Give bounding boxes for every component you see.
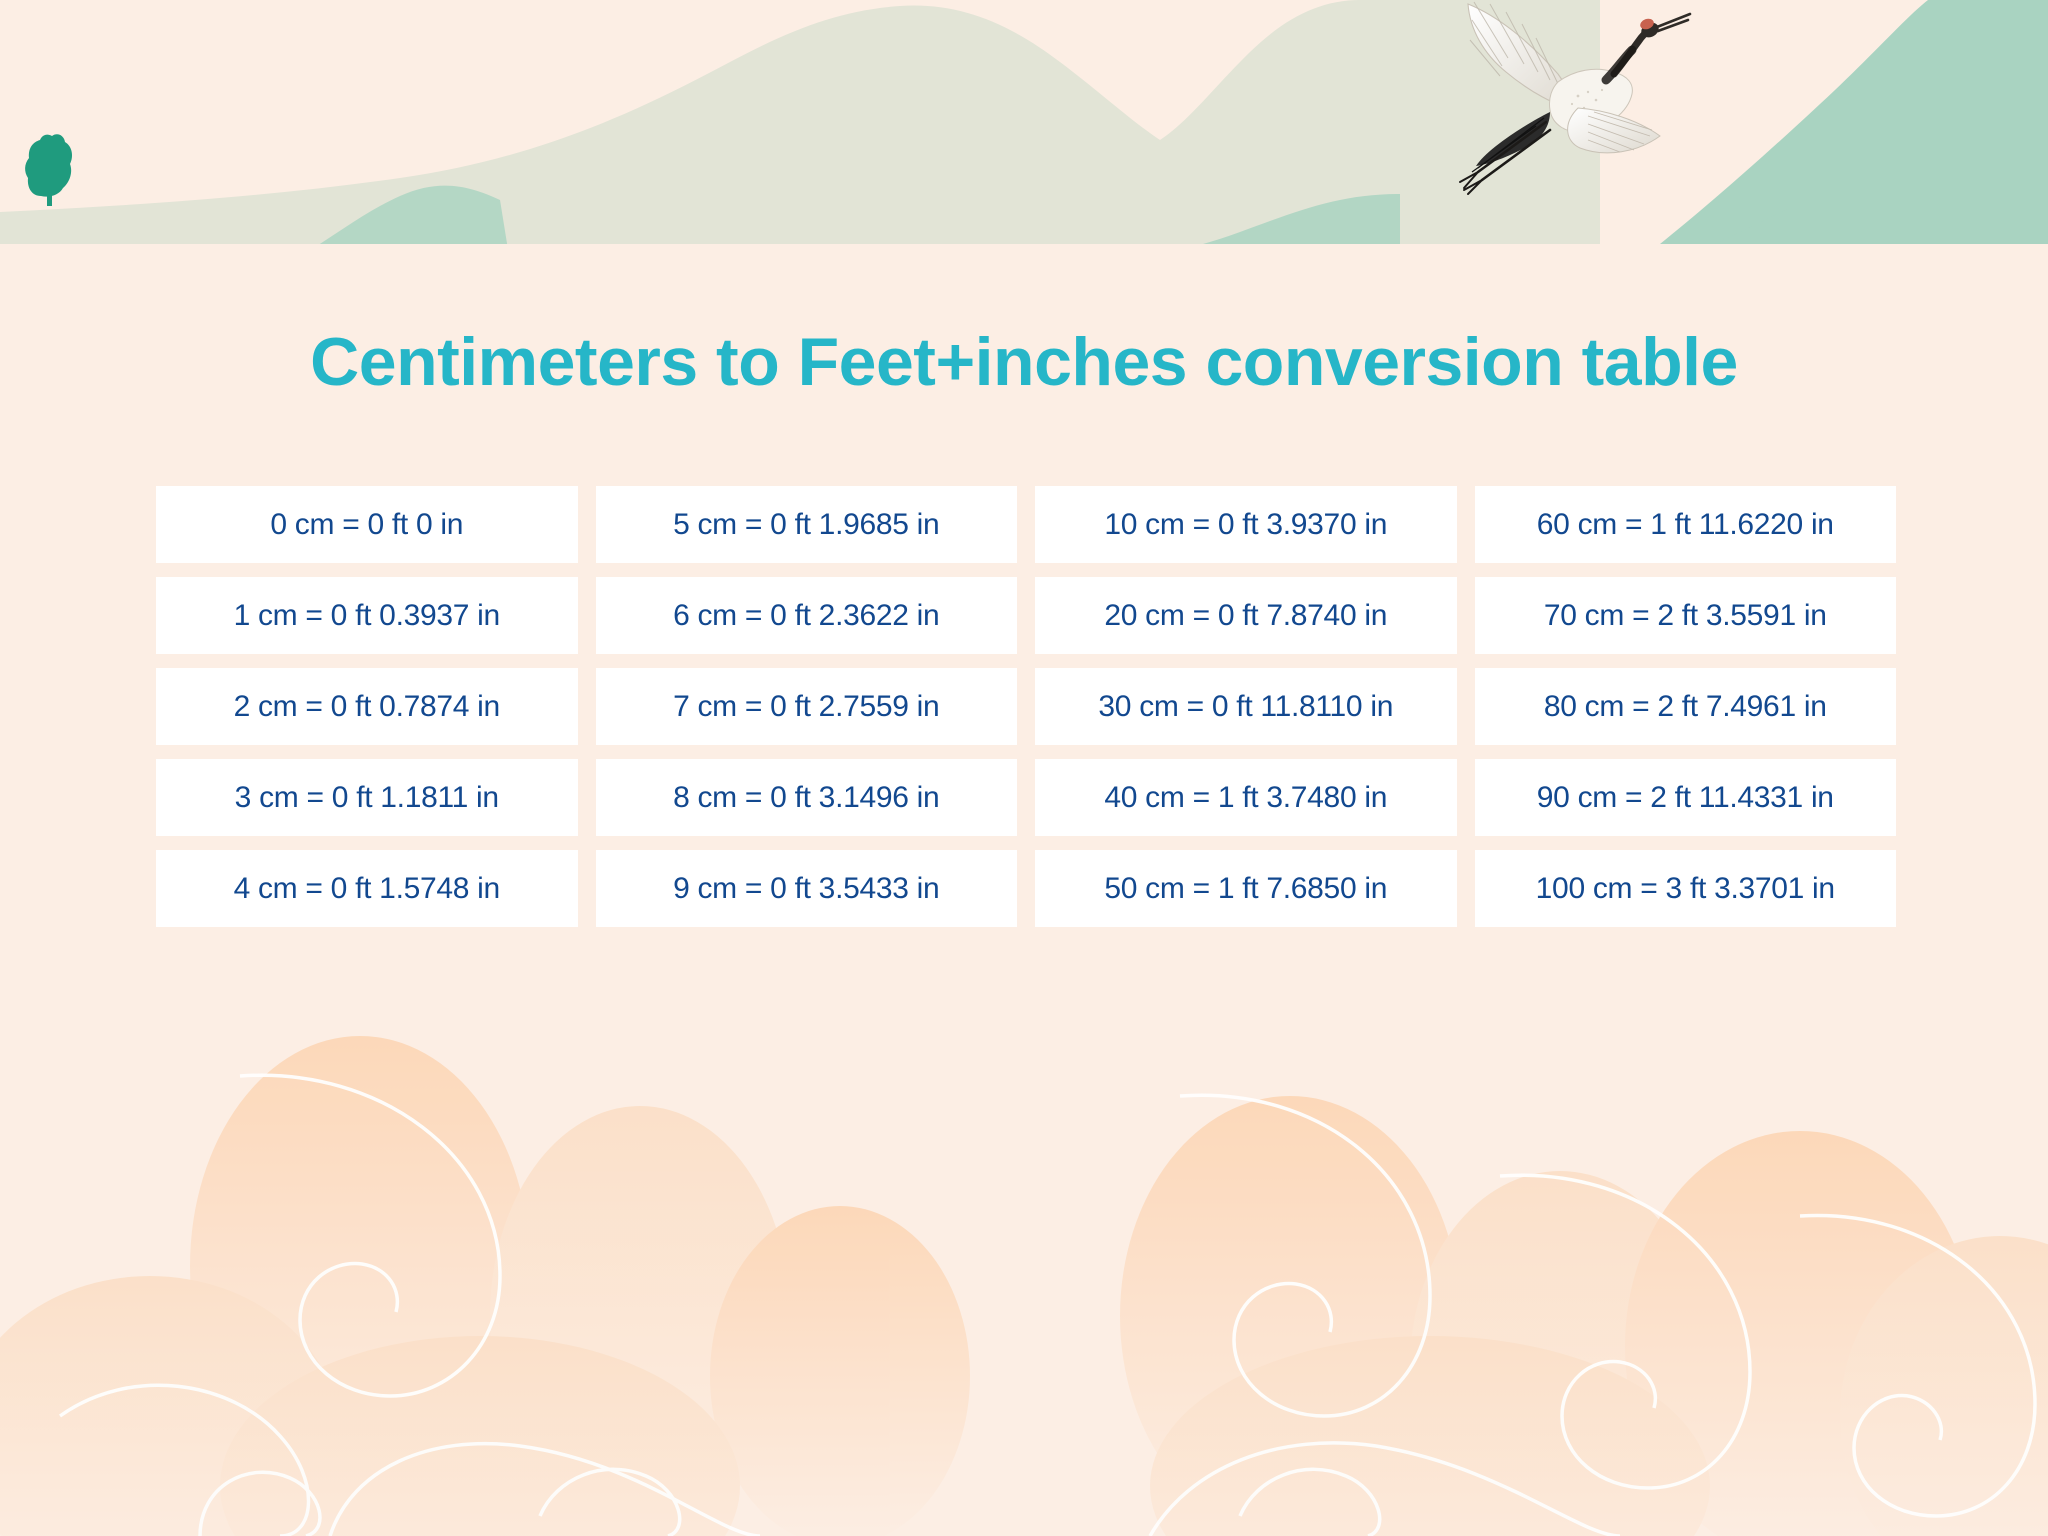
conversion-cell: 5 cm = 0 ft 1.9685 in bbox=[596, 486, 1018, 563]
conversion-cell: 3 cm = 0 ft 1.1811 in bbox=[156, 759, 578, 836]
conversion-cell: 70 cm = 2 ft 3.5591 in bbox=[1475, 577, 1897, 654]
conversion-cell: 30 cm = 0 ft 11.8110 in bbox=[1035, 668, 1457, 745]
slide-canvas: Centimeters to Feet+inches conversion ta… bbox=[0, 0, 2048, 1536]
conversion-cell: 2 cm = 0 ft 0.7874 in bbox=[156, 668, 578, 745]
conversion-cell: 9 cm = 0 ft 3.5433 in bbox=[596, 850, 1018, 927]
header-mountain-band bbox=[0, 0, 2048, 262]
cloud-decoration bbox=[0, 1016, 2048, 1536]
conversion-cell: 10 cm = 0 ft 3.9370 in bbox=[1035, 486, 1457, 563]
conversion-cell: 8 cm = 0 ft 3.1496 in bbox=[596, 759, 1018, 836]
conversion-cell: 7 cm = 0 ft 2.7559 in bbox=[596, 668, 1018, 745]
conversion-cell: 60 cm = 1 ft 11.6220 in bbox=[1475, 486, 1897, 563]
conversion-cell: 1 cm = 0 ft 0.3937 in bbox=[156, 577, 578, 654]
cloud-left bbox=[0, 1036, 970, 1536]
conversion-cell: 90 cm = 2 ft 11.4331 in bbox=[1475, 759, 1897, 836]
conversion-cell: 80 cm = 2 ft 7.4961 in bbox=[1475, 668, 1897, 745]
conversion-cell: 50 cm = 1 ft 7.6850 in bbox=[1035, 850, 1457, 927]
page-title: Centimeters to Feet+inches conversion ta… bbox=[0, 328, 2048, 396]
conversion-cell: 0 cm = 0 ft 0 in bbox=[156, 486, 578, 563]
cloud-right bbox=[1120, 1095, 2048, 1536]
conversion-cell: 4 cm = 0 ft 1.5748 in bbox=[156, 850, 578, 927]
conversion-table: 0 cm = 0 ft 0 in5 cm = 0 ft 1.9685 in10 … bbox=[156, 486, 1896, 927]
conversion-table-grid: 0 cm = 0 ft 0 in5 cm = 0 ft 1.9685 in10 … bbox=[156, 486, 1896, 927]
conversion-cell: 100 cm = 3 ft 3.3701 in bbox=[1475, 850, 1897, 927]
conversion-cell: 20 cm = 0 ft 7.8740 in bbox=[1035, 577, 1457, 654]
conversion-cell: 6 cm = 0 ft 2.3622 in bbox=[596, 577, 1018, 654]
conversion-cell: 40 cm = 1 ft 3.7480 in bbox=[1035, 759, 1457, 836]
